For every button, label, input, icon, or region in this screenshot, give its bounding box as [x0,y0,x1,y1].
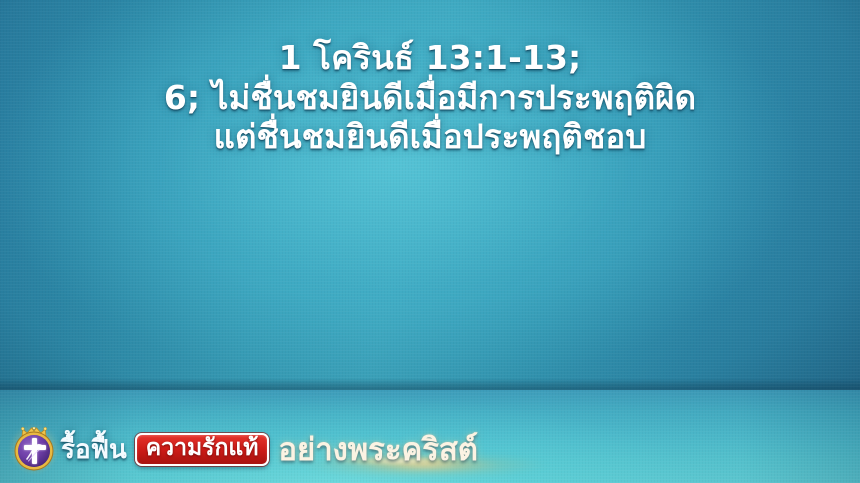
slide-canvas: 1 โครินธ์ 13:1-13; 6; ไม่ชื่นชมยินดีเมื่… [0,0,860,483]
brand-bar: รื้อฟื้น ความรักแท้ อย่างพระคริสต์ [0,418,860,480]
fish-swoosh-icon [26,443,43,462]
brand-highlight-badge: ความรักแท้ [135,433,270,466]
verse-line-1: 1 โครินธ์ 13:1-13; [0,38,860,78]
verse-line-3: แต่ชื่นชมยินดีเมื่อประพฤติชอบ [0,117,860,157]
verse-text-block: 1 โครินธ์ 13:1-13; 6; ไม่ชื่นชมยินดีเมื่… [0,38,860,157]
brand-word-after: อย่างพระคริสต์ [278,424,478,474]
logo-disc [18,435,50,467]
brand-badge-label: ความรักแท้ [146,437,259,460]
verse-line-2: 6; ไม่ชื่นชมยินดีเมื่อมีการประพฤติผิด [0,78,860,118]
brand-word-before: รื้อฟื้น [61,429,127,470]
crown-cross-emblem-icon [16,427,52,469]
